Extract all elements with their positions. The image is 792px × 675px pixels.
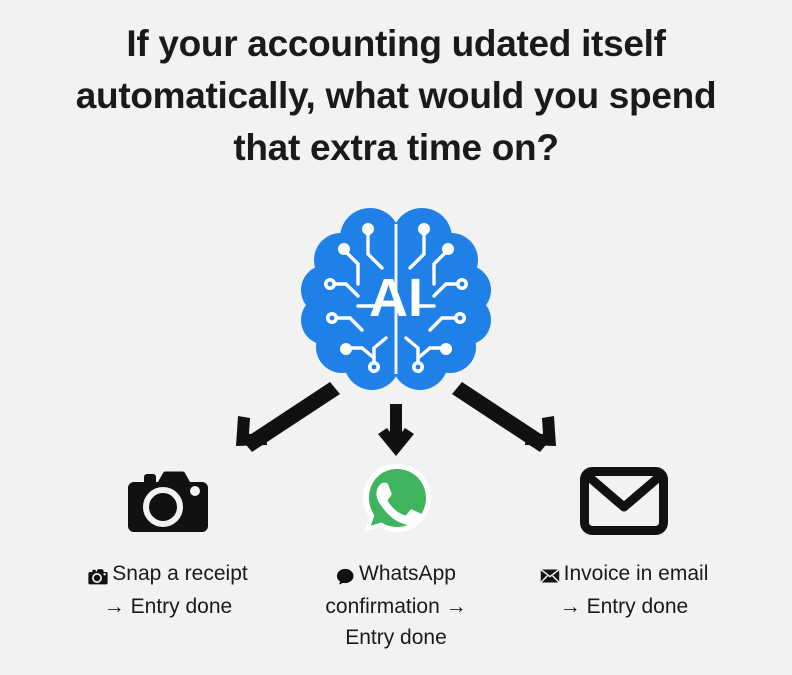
- caption-line-2: → Entry done: [104, 595, 232, 618]
- outcome-columns: Snap a receipt → Entry done What: [0, 458, 792, 653]
- column-snap-receipt: Snap a receipt → Entry done: [54, 458, 282, 622]
- caption-line-1: Invoice in email: [564, 562, 709, 585]
- caption-line-3: Entry done: [345, 626, 447, 649]
- poster-canvas: If your accounting udated itself automat…: [0, 0, 792, 675]
- camera-glyph: [88, 560, 108, 591]
- caption-snap-receipt: Snap a receipt → Entry done: [88, 558, 247, 622]
- caption-line-2: → Entry done: [560, 595, 688, 618]
- column-invoice-email: Invoice in email → Entry done: [510, 458, 738, 622]
- arrow-group: [0, 370, 792, 470]
- caption-invoice-email: Invoice in email → Entry done: [540, 558, 709, 622]
- headline-line-1: If your accounting udated itself: [40, 18, 752, 70]
- arrow-center: [378, 404, 414, 456]
- speech-bubble-glyph: [336, 560, 355, 591]
- brain-ai-label: AI: [369, 268, 423, 328]
- page-title: If your accounting udated itself automat…: [0, 18, 792, 174]
- envelope-icon: [580, 458, 668, 544]
- headline-line-3: that extra time on?: [40, 122, 752, 174]
- column-whatsapp-confirmation: WhatsApp confirmation → Entry done: [282, 458, 510, 653]
- caption-whatsapp-confirmation: WhatsApp confirmation → Entry done: [325, 558, 466, 653]
- camera-icon: [126, 458, 210, 544]
- caption-line-1: WhatsApp: [359, 562, 456, 585]
- arrow-left: [236, 382, 340, 452]
- arrow-right: [452, 382, 556, 452]
- caption-line-2: confirmation →: [325, 595, 466, 618]
- caption-line-1: Snap a receipt: [112, 562, 247, 585]
- envelope-glyph: [540, 560, 560, 591]
- ai-brain-icon: AI: [296, 198, 496, 398]
- whatsapp-icon: [357, 458, 435, 544]
- headline-line-2: automatically, what would you spend: [40, 70, 752, 122]
